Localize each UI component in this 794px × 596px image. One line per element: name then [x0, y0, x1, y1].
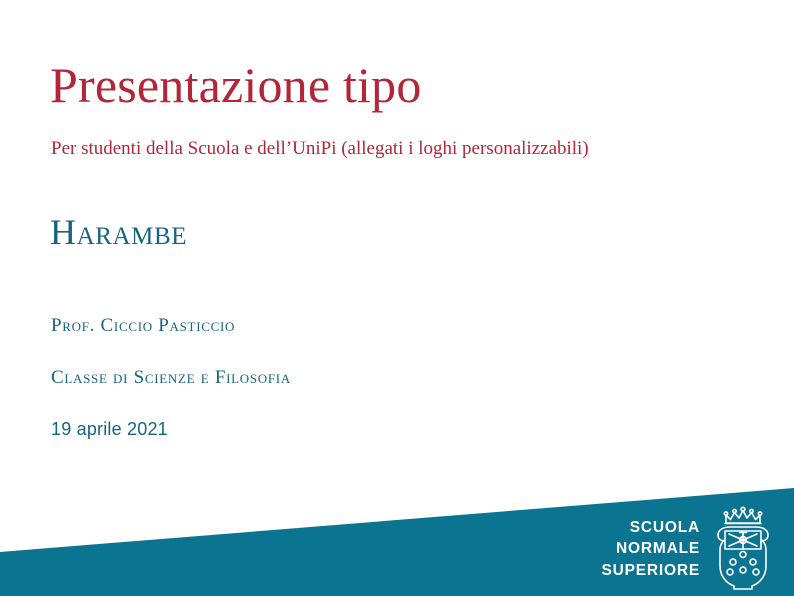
logo-wordmark: SCUOLA NORMALE SUPERIORE — [602, 517, 701, 580]
scuola-normale-superiore-crest-icon — [710, 506, 776, 592]
logo-line-normale: NORMALE — [616, 538, 700, 559]
author-name: Prof. Ciccio Pasticcio — [51, 315, 235, 337]
presentation-date: 19 aprile 2021 — [51, 419, 168, 440]
presentation-slide: Presentazione tipo Per studenti della Sc… — [0, 0, 794, 596]
page-title: Presentazione tipo — [50, 58, 422, 112]
logo-line-scuola: SCUOLA — [630, 517, 700, 538]
page-subtitle: Per studenti della Scuola e dell’UniPi (… — [51, 138, 589, 161]
affiliation-text: Classe di Scienze e Filosofia — [51, 367, 291, 389]
institution-logo: SCUOLA NORMALE SUPERIORE — [602, 506, 777, 592]
talk-title: Harambe — [50, 212, 187, 253]
logo-line-superiore: SUPERIORE — [602, 560, 701, 581]
